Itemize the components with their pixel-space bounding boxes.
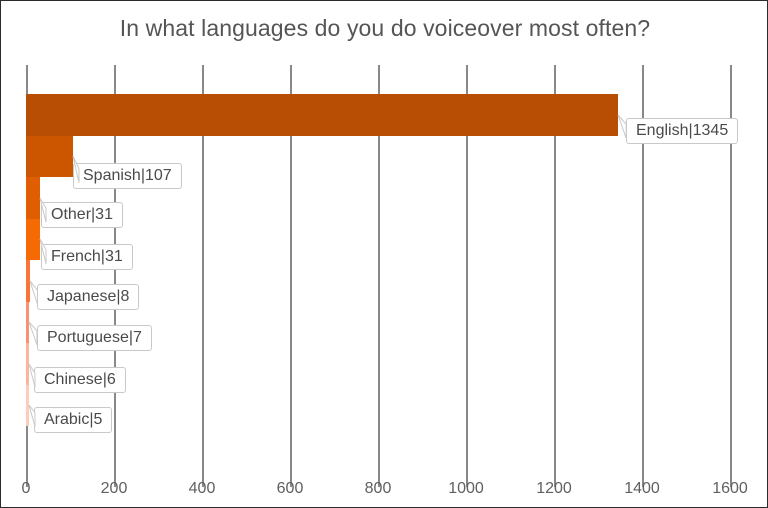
data-label-spanish[interactable]: Spanish|107 <box>73 163 182 189</box>
data-label-english[interactable]: English|1345 <box>626 118 738 144</box>
data-label-french[interactable]: French|31 <box>41 244 133 270</box>
x-ticklabel-1400: 1400 <box>624 480 660 498</box>
bar-english[interactable] <box>26 94 618 136</box>
bar-japanese[interactable] <box>26 260 30 302</box>
data-label-chinese[interactable]: Chinese|6 <box>34 367 126 393</box>
bar-arabic[interactable] <box>26 385 29 427</box>
plot-area: English|1345Spanish|107Other|31French|31… <box>26 65 730 471</box>
bar-french[interactable] <box>26 219 40 261</box>
data-label-portuguese[interactable]: Portuguese|7 <box>37 325 152 351</box>
x-ticklabel-1600: 1600 <box>712 480 748 498</box>
data-label-arabic[interactable]: Arabic|5 <box>34 407 112 433</box>
bar-other[interactable] <box>26 177 40 219</box>
data-label-japanese[interactable]: Japanese|8 <box>37 284 139 310</box>
chart-page: In what languages do you do voiceover mo… <box>0 0 768 508</box>
x-ticklabel-1000: 1000 <box>448 480 484 498</box>
bar-chinese[interactable] <box>26 343 29 385</box>
x-ticklabel-200: 200 <box>101 480 128 498</box>
chart-title: In what languages do you do voiceover mo… <box>1 15 768 42</box>
x-ticklabel-800: 800 <box>365 480 392 498</box>
bar-row <box>26 94 730 136</box>
bar-portuguese[interactable] <box>26 302 29 344</box>
x-ticklabel-400: 400 <box>189 480 216 498</box>
data-label-other[interactable]: Other|31 <box>41 202 123 228</box>
x-ticklabel-600: 600 <box>277 480 304 498</box>
x-ticklabel-0: 0 <box>22 480 31 498</box>
bar-spanish[interactable] <box>26 136 73 178</box>
bar-row <box>26 385 730 427</box>
x-ticklabel-1200: 1200 <box>536 480 572 498</box>
